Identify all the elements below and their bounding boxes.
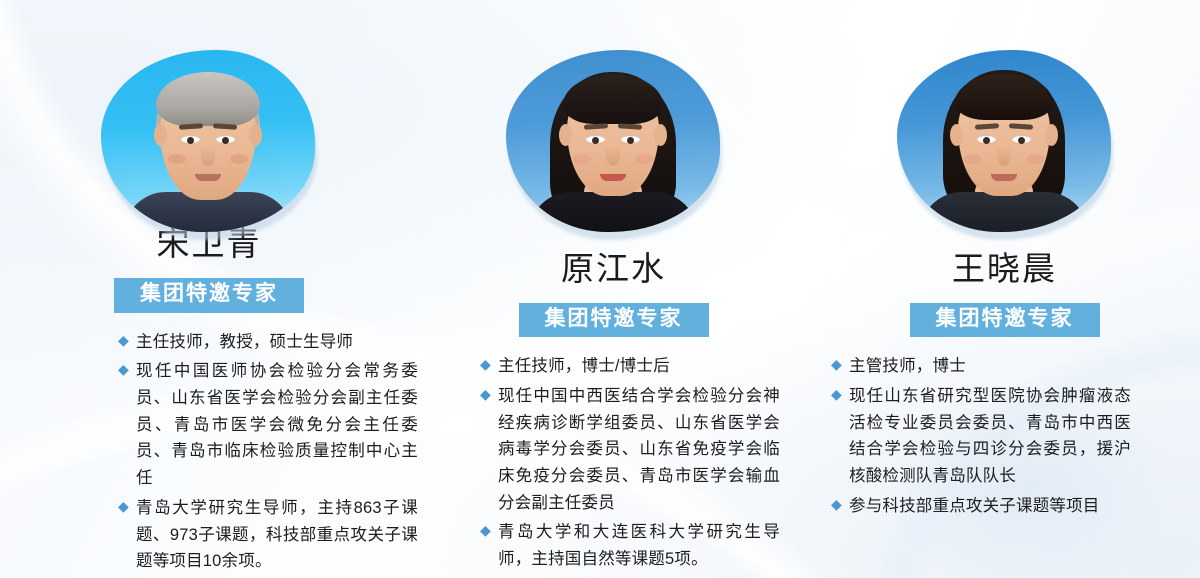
expert-card: 王晓晨 集团特邀专家 ◆ 主管技师，博士 ◆ 现任山东省研究型医院协会肿瘤液态活… <box>809 0 1200 578</box>
expert-photo <box>897 50 1113 236</box>
bio-bullet-text: 现任山东省研究型医院协会肿瘤液态活检专业委员会委员、青岛市中西医结合学会检验与四… <box>849 387 1131 485</box>
bio-bullet: ◆ 现任山东省研究型医院协会肿瘤液态活检专业委员会委员、青岛市中西医结合学会检验… <box>831 383 1131 490</box>
ear-right <box>654 124 667 146</box>
portrait-illustration <box>506 50 720 232</box>
bio-bullet: ◆ 现任中国中西医结合学会检验分会神经疾病诊断学组委员、山东省医学会病毒学分会委… <box>480 383 780 517</box>
bio-bullet-text: 主任技师，博士/博士后 <box>498 357 670 375</box>
mouth <box>991 174 1017 181</box>
bio-bullet-text: 青岛大学和大连医科大学研究生导师，主持国自然等课题5项。 <box>498 523 780 568</box>
bio-bullet: ◆ 现任中国医师协会检验分会常务委员、山东省医学会检验分会副主任委员、青岛市医学… <box>118 358 418 492</box>
ear-left <box>950 124 963 146</box>
nose <box>997 146 1011 166</box>
diamond-bullet-icon: ◆ <box>480 519 491 542</box>
diamond-bullet-icon: ◆ <box>480 353 491 376</box>
pupil-right <box>1018 137 1025 144</box>
expert-showcase-slide: 宋卫青 集团特邀专家 ◆ 主任技师，教授，硕士生导师 ◆ 现任中国医师协会检验分… <box>0 0 1200 578</box>
nose <box>201 146 215 166</box>
cheek-right <box>230 154 248 164</box>
diamond-bullet-icon: ◆ <box>831 383 842 406</box>
bio-bullet-text: 主任技师，教授，硕士生导师 <box>136 333 353 351</box>
portrait-illustration <box>897 50 1111 232</box>
nose <box>606 146 620 166</box>
diamond-bullet-icon: ◆ <box>118 329 129 352</box>
bio-bullet-text: 青岛大学研究生导师，主持863子课题、973子课题，科技部重点攻关子课题等项目1… <box>136 499 418 570</box>
expert-name: 原江水 <box>561 252 666 285</box>
pupil-right <box>222 137 229 144</box>
bio-bullet-text: 参与科技部重点攻关子课题等项目 <box>849 497 1100 515</box>
expert-badge: 集团特邀专家 <box>910 303 1100 337</box>
photo-blob <box>506 50 720 232</box>
bio-bullet: ◆ 主任技师，博士/博士后 <box>480 353 780 380</box>
expert-bio-list: ◆ 主管技师，博士 ◆ 现任山东省研究型医院协会肿瘤液态活检专业委员会委员、青岛… <box>831 353 1131 522</box>
portrait-illustration <box>101 50 315 232</box>
bio-bullet: ◆ 参与科技部重点攻关子课题等项目 <box>831 493 1131 520</box>
pupil-right <box>627 137 634 144</box>
expert-card: 原江水 集团特邀专家 ◆ 主任技师，博士/博士后 ◆ 现任中国中西医结合学会检验… <box>418 0 809 578</box>
hair-top <box>156 72 260 126</box>
pupil-left <box>983 137 990 144</box>
pupil-left <box>187 137 194 144</box>
ear-left <box>154 124 167 146</box>
ear-left <box>559 124 572 146</box>
ear-right <box>1045 124 1058 146</box>
diamond-bullet-icon: ◆ <box>480 383 491 406</box>
bio-bullet-text: 现任中国医师协会检验分会常务委员、山东省医学会检验分会副主任委员、青岛市医学会微… <box>136 362 418 487</box>
pupil-left <box>592 137 599 144</box>
mouth <box>600 174 626 181</box>
bio-bullet: ◆ 青岛大学和大连医科大学研究生导师，主持国自然等课题5项。 <box>480 519 780 572</box>
expert-columns: 宋卫青 集团特邀专家 ◆ 主任技师，教授，硕士生导师 ◆ 现任中国医师协会检验分… <box>0 0 1200 578</box>
expert-photo <box>506 50 722 236</box>
diamond-bullet-icon: ◆ <box>118 358 129 381</box>
expert-photo <box>101 50 317 211</box>
cheek-right <box>1026 154 1044 164</box>
diamond-bullet-icon: ◆ <box>118 495 129 518</box>
cheek-left <box>168 154 186 164</box>
expert-badge: 集团特邀专家 <box>519 303 709 337</box>
bio-bullet-text: 主管技师，博士 <box>849 357 966 375</box>
cheek-left <box>573 154 591 164</box>
bio-bullet: ◆ 主管技师，博士 <box>831 353 1131 380</box>
cheek-right <box>635 154 653 164</box>
expert-bio-list: ◆ 主任技师，教授，硕士生导师 ◆ 现任中国医师协会检验分会常务委员、山东省医学… <box>118 329 418 578</box>
bio-bullet: ◆ 青岛大学研究生导师，主持863子课题、973子课题，科技部重点攻关子课题等项… <box>118 495 418 575</box>
photo-blob <box>897 50 1111 232</box>
diamond-bullet-icon: ◆ <box>831 493 842 516</box>
mouth <box>195 174 221 181</box>
shoulders <box>529 192 697 232</box>
diamond-bullet-icon: ◆ <box>831 353 842 376</box>
expert-badge: 集团特邀专家 <box>114 278 304 312</box>
hair-top <box>563 74 663 124</box>
cheek-left <box>964 154 982 164</box>
ear-right <box>249 124 262 146</box>
shoulders <box>920 192 1088 232</box>
bio-bullet: ◆ 主任技师，教授，硕士生导师 <box>118 329 418 356</box>
photo-blob <box>101 50 315 232</box>
expert-card: 宋卫青 集团特邀专家 ◆ 主任技师，教授，硕士生导师 ◆ 现任中国医师协会检验分… <box>0 0 418 578</box>
expert-bio-list: ◆ 主任技师，博士/博士后 ◆ 现任中国中西医结合学会检验分会神经疾病诊断学组委… <box>480 353 780 576</box>
bio-bullet-text: 现任中国中西医结合学会检验分会神经疾病诊断学组委员、山东省医学会病毒学分会委员、… <box>498 387 780 512</box>
expert-name: 王晓晨 <box>952 252 1057 285</box>
